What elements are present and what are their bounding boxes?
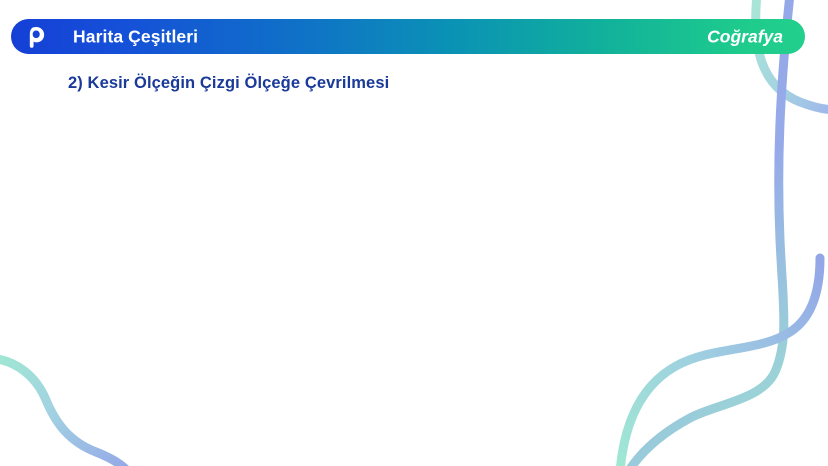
subject-label: Coğrafya <box>707 26 783 47</box>
page-title: Harita Çeşitleri <box>73 26 198 47</box>
slide-content: 2) Kesir Ölçeğin Çizgi Ölçeğe Çevrilmesi <box>0 54 828 466</box>
header-bar: Harita Çeşitleri Coğrafya <box>11 19 805 54</box>
slide-canvas: Harita Çeşitleri Coğrafya 2) Kesir Ölçeğ… <box>0 0 828 466</box>
brand-p-logo-icon <box>23 24 49 50</box>
content-body <box>68 106 708 450</box>
section-heading: 2) Kesir Ölçeğin Çizgi Ölçeğe Çevrilmesi <box>68 74 389 93</box>
